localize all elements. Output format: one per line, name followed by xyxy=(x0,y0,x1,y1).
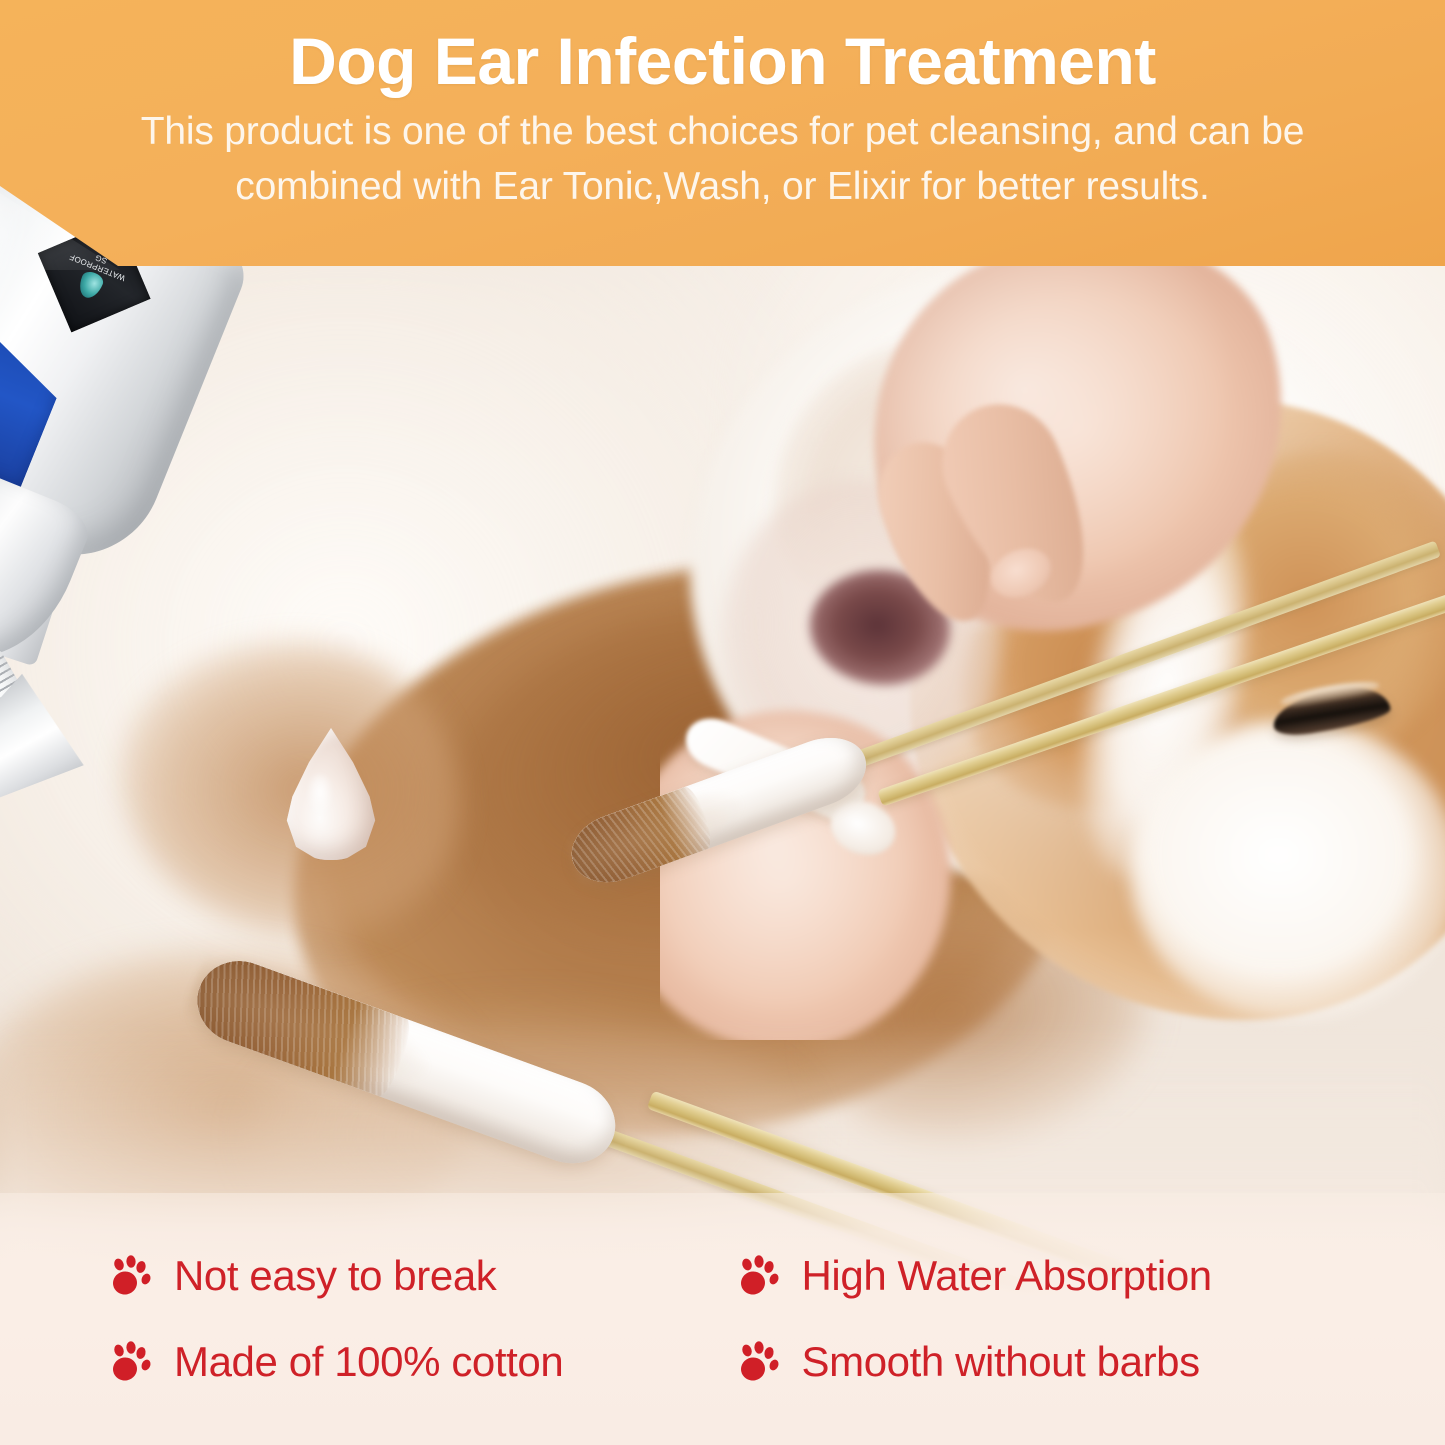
header-banner-content: Dog Ear Infection Treatment This product… xyxy=(0,0,1445,266)
paw-print-icon xyxy=(738,1254,782,1298)
paw-print-icon xyxy=(738,1340,782,1384)
paw-print-icon xyxy=(110,1340,154,1384)
droplet-highlight xyxy=(307,775,333,817)
feature-list-band: Not easy to break High Water Absorption xyxy=(0,1193,1445,1445)
feature-item-high-water-absorption: High Water Absorption xyxy=(738,1254,1336,1298)
feature-grid: Not easy to break High Water Absorption xyxy=(110,1254,1335,1384)
page-title: Dog Ear Infection Treatment xyxy=(289,28,1156,95)
page-subtitle: This product is one of the best choices … xyxy=(58,105,1388,214)
feature-label: Not easy to break xyxy=(174,1255,496,1297)
feature-label: High Water Absorption xyxy=(802,1255,1212,1297)
feature-label: Smooth without barbs xyxy=(802,1341,1200,1383)
feature-item-not-easy-to-break: Not easy to break xyxy=(110,1254,708,1298)
feature-label: Made of 100% cotton xyxy=(174,1341,563,1383)
dog-muzzle xyxy=(1130,720,1445,1020)
product-infographic: SG WATERPROOF xyxy=(0,0,1445,1445)
paw-print-icon xyxy=(110,1254,154,1298)
feature-item-smooth-without-barbs: Smooth without barbs xyxy=(738,1340,1336,1384)
feature-item-made-of-100-cotton: Made of 100% cotton xyxy=(110,1340,708,1384)
